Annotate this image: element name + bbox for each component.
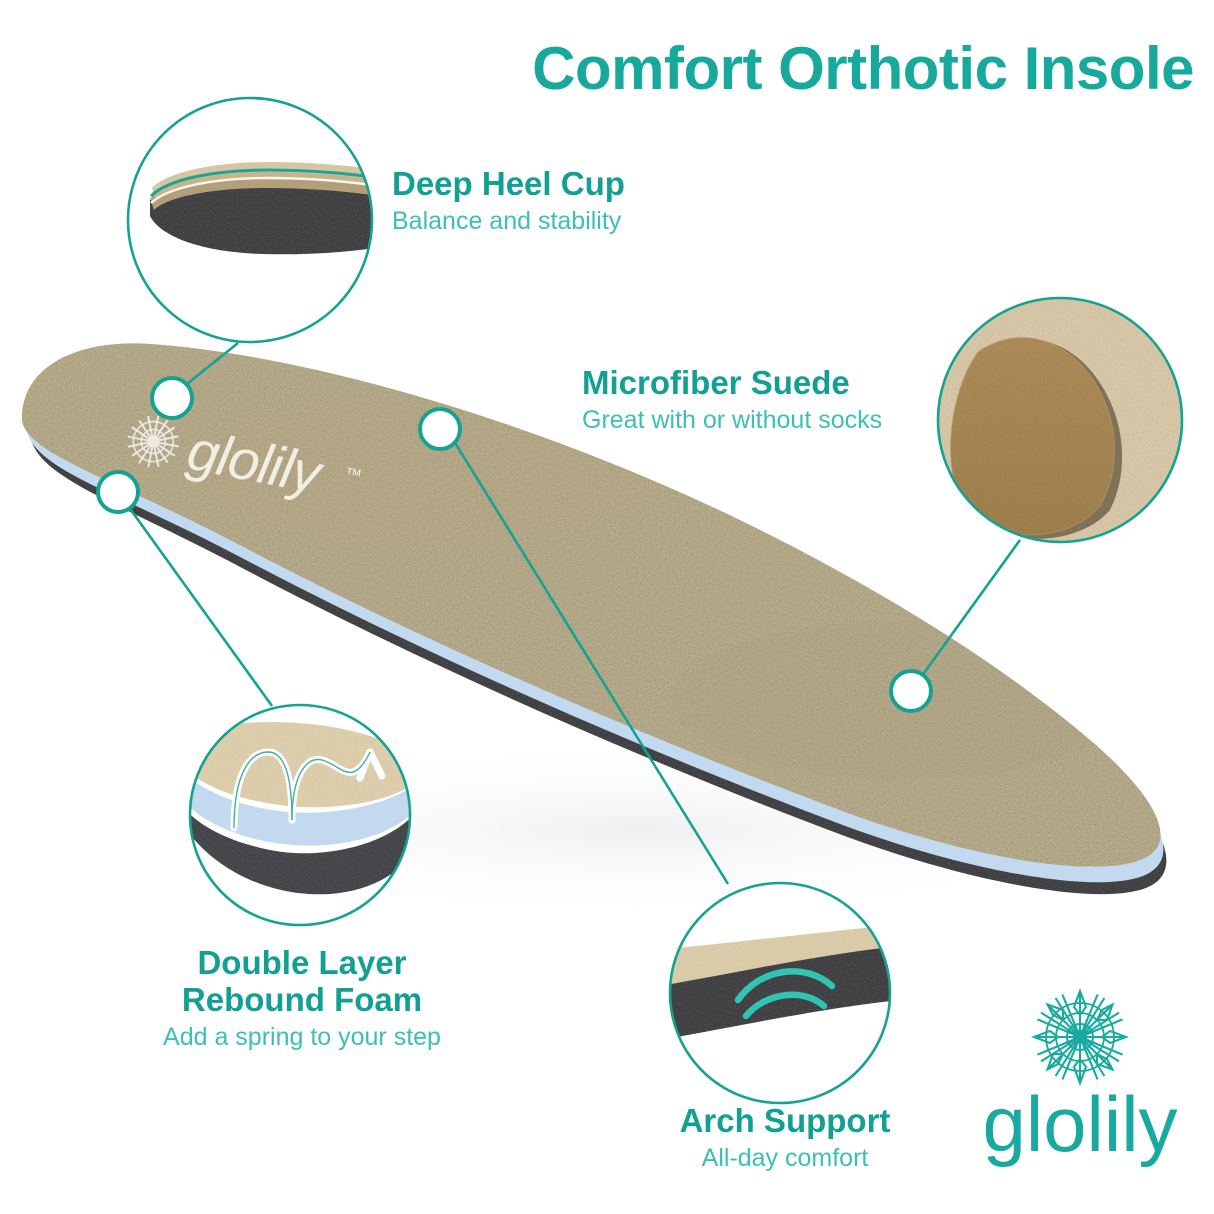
callout-arch-support: Arch Support All-day comfort bbox=[640, 1103, 930, 1174]
callout-rebound-foam: Double Layer Rebound Foam Add a spring t… bbox=[148, 945, 456, 1053]
callout-subheading-rebound-foam: Add a spring to your step bbox=[148, 1022, 456, 1053]
callout-heading-microfiber-suede: Microfiber Suede bbox=[582, 365, 882, 402]
callout-heading-deep-heel-cup: Deep Heel Cup bbox=[392, 166, 625, 203]
infographic-canvas: Comfort Orthotic Insole bbox=[0, 0, 1214, 1214]
brand-wordmark: glolily bbox=[955, 1085, 1205, 1163]
callout-heading-arch-support: Arch Support bbox=[640, 1103, 930, 1140]
callout-heading-rebound-foam-line1: Double Layer bbox=[148, 945, 456, 982]
brand-logo: glolily bbox=[955, 985, 1205, 1190]
sunburst-flower-icon bbox=[955, 985, 1205, 1095]
callout-microfiber-suede: Microfiber Suede Great with or without s… bbox=[582, 365, 882, 436]
callout-subheading-arch-support: All-day comfort bbox=[640, 1143, 930, 1174]
callout-subheading-deep-heel-cup: Balance and stability bbox=[392, 206, 625, 237]
insole-trademark: ™ bbox=[343, 464, 363, 486]
callout-deep-heel-cup: Deep Heel Cup Balance and stability bbox=[392, 166, 625, 237]
callout-subheading-microfiber-suede: Great with or without socks bbox=[582, 405, 882, 436]
callout-heading-rebound-foam-line2: Rebound Foam bbox=[148, 982, 456, 1019]
